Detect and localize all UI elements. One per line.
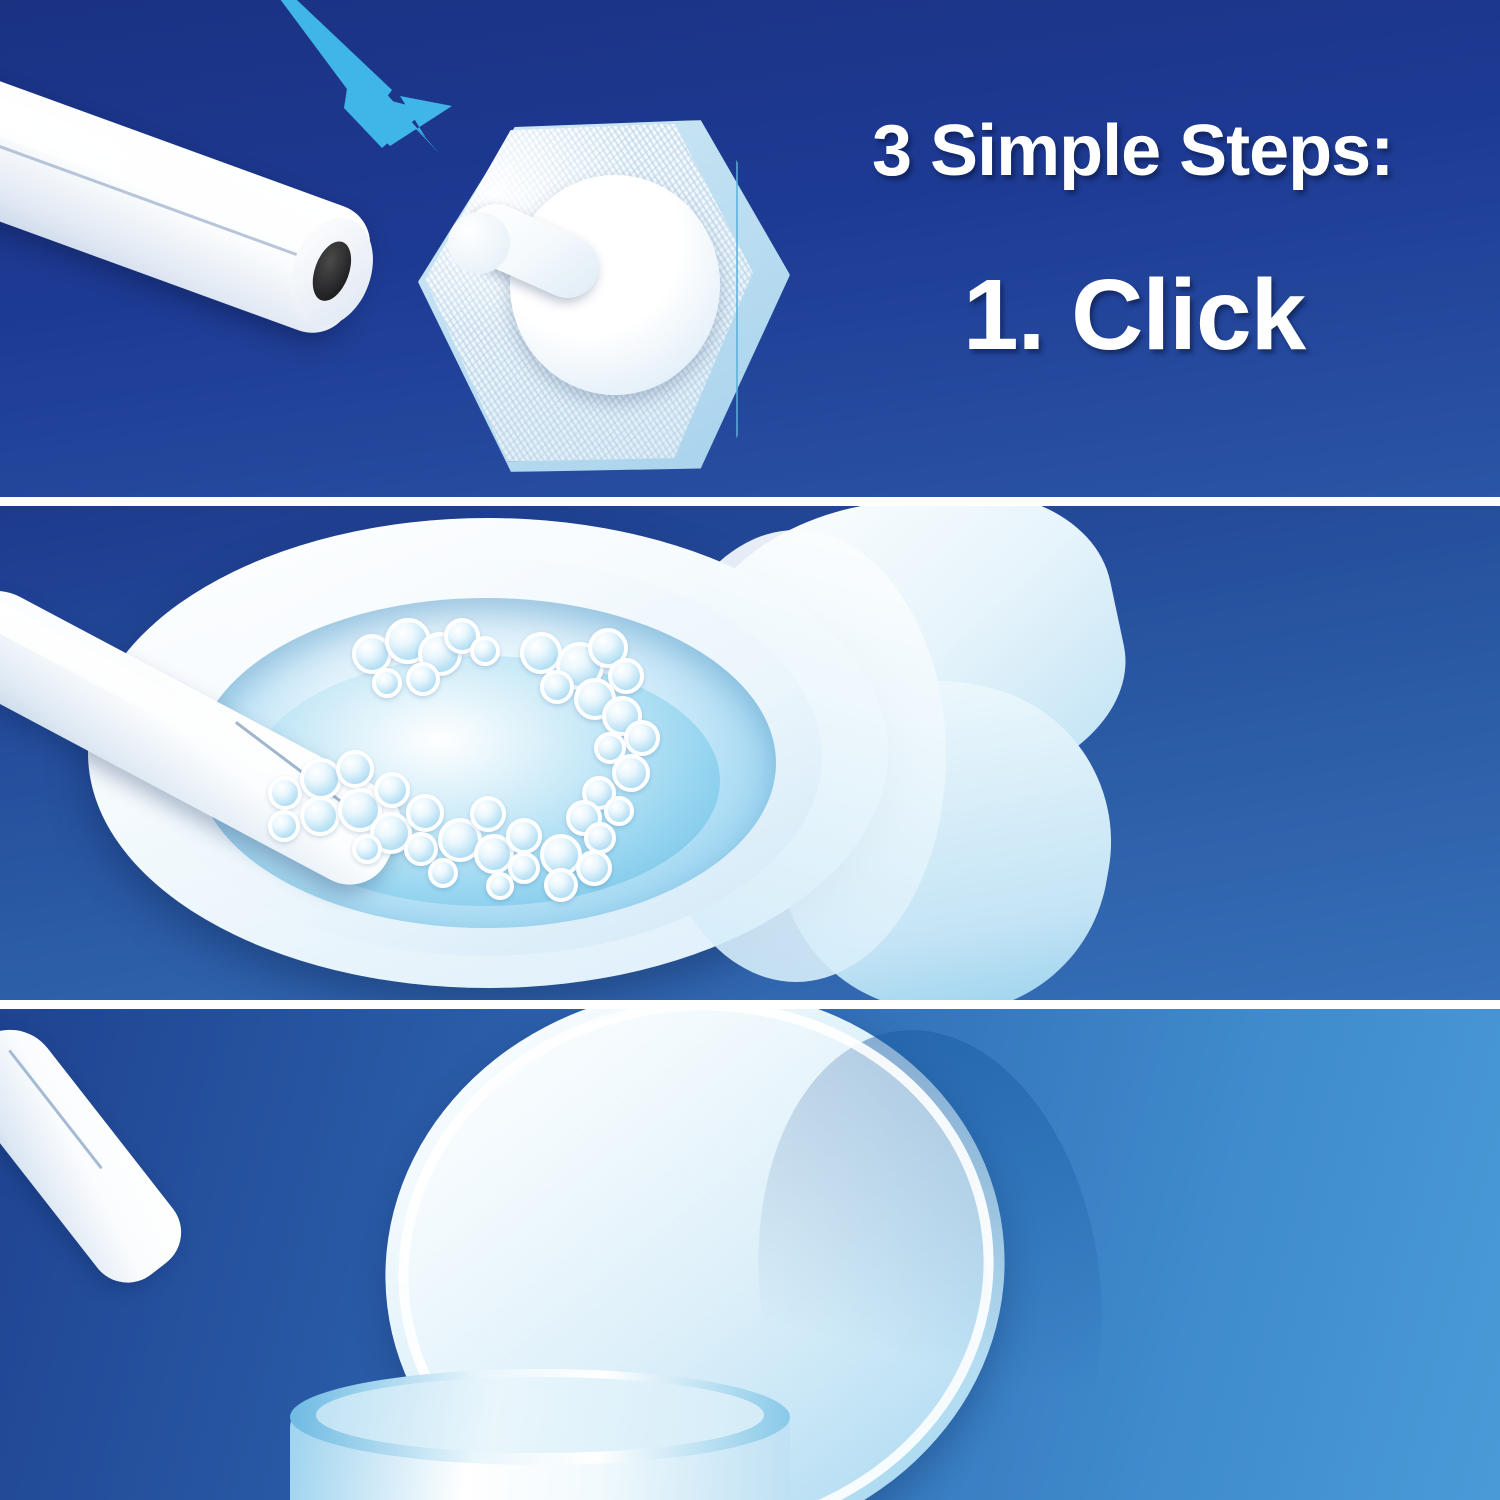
foam-bubble [624, 720, 660, 756]
foam-bubble [352, 834, 382, 864]
trash-can-inner-opening [316, 1377, 764, 1453]
foam-bubble [406, 662, 440, 696]
step-label-click: 1. Click [963, 258, 1305, 373]
foam-bubble [470, 636, 500, 666]
foam-bubble [268, 776, 302, 810]
panel-divider-2 [0, 1000, 1500, 1009]
foam-bubble [576, 850, 612, 886]
foam-bubble [486, 872, 514, 900]
foam-bubble [428, 858, 458, 888]
pad-blue-edge [736, 141, 775, 451]
infographic-board: 3 Simple Steps: 1. Click 2. Swish [0, 0, 1500, 1500]
panel-step-click: 3 Simple Steps: 1. Click [0, 0, 1500, 497]
foam-bubble [612, 754, 650, 792]
foam-bubble [506, 818, 542, 854]
foam-bubble [268, 810, 300, 842]
panel-divider-1 [0, 497, 1500, 506]
hexagonal-cleaning-pad [418, 120, 790, 472]
foam-bubble [604, 796, 634, 826]
foam-bubble [540, 670, 574, 704]
foam-bubble [300, 796, 340, 836]
headline: 3 Simple Steps: [872, 110, 1393, 192]
panel-step-toss: 3. Toss [0, 1009, 1500, 1500]
foam-bubble [336, 750, 374, 788]
foam-bubble [508, 852, 540, 884]
foam-bubble [544, 868, 578, 902]
foam-bubble [584, 822, 616, 854]
foam-bubble [374, 772, 410, 808]
foam-bubble [470, 796, 506, 832]
pad-nub-cap [448, 212, 510, 274]
panel-step-swish: 2. Swish [0, 506, 1500, 1000]
foam-bubble [372, 668, 402, 698]
foam-bubble [406, 794, 444, 832]
